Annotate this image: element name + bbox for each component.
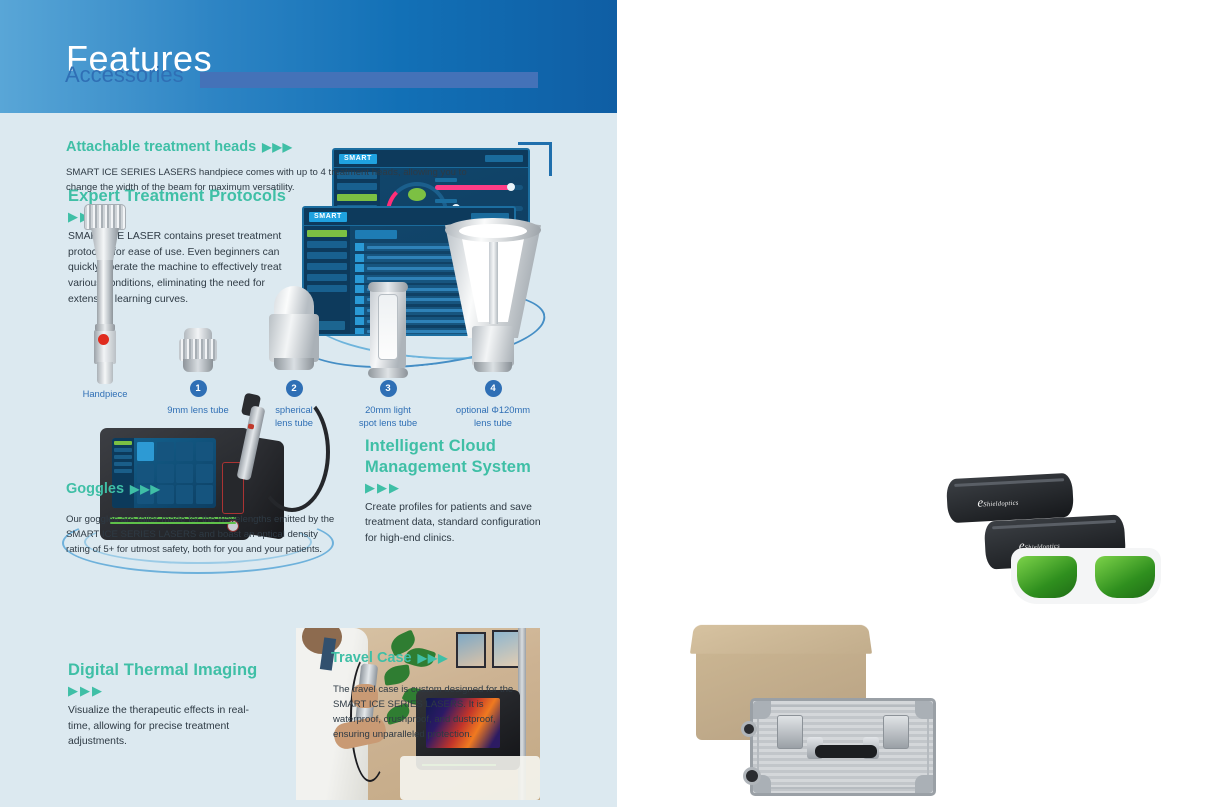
case-corner-bracket [753,701,771,719]
slider-knob [507,183,515,191]
goggles-lens-right [1095,556,1155,598]
software-brand-label: SMART [339,154,377,164]
safety-goggles [1011,548,1161,604]
handpiece-shaft [97,260,113,332]
goggles-lens-left [1017,556,1077,598]
section-heading-attachable-treatment-heads: Attachable treatment heads▶▶▶ [66,139,293,155]
handpiece-ribbed-top [84,204,126,230]
case-corner-bracket [915,701,933,719]
section-heading-goggles: Goggles▶▶▶ [66,481,161,497]
accessories-title: Accessories [65,62,184,88]
section-body-goggles: Our goggles are tailor-made for the wave… [66,513,341,558]
treatment-head-spherical-lens-tube: 2 spherical lens tube [254,200,334,430]
treatment-head-label: spherical lens tube [254,404,334,430]
grid-tile [176,442,193,461]
lens-tube-4-illustration [445,218,541,378]
arrow-marker-icon: ▶▶▶ [365,481,550,494]
treatment-head-label: 20mm light spot lens tube [342,404,434,430]
tube-base [368,368,408,378]
lens-tube-3-illustration [368,282,408,378]
tube-body [269,314,319,362]
case-logo-wordmark: Shieldoptics [983,499,1019,508]
touchscreen-tile-grid [134,438,216,508]
case-zipper [954,478,1065,487]
treatment-head-label: 9mm lens tube [156,404,240,417]
treatment-head-label: Handpiece [66,388,144,401]
grid-tile [157,442,174,461]
handpiece-tip [97,362,113,384]
section-body-travel-case: The travel case is custom designed for t… [333,683,533,742]
sidebar-item-active [114,441,132,445]
touchscreen-sidebar [112,438,134,508]
cone-neck [472,326,514,366]
case-handle [815,745,877,758]
aluminum-travel-case [750,698,936,796]
treatment-head-20mm-light-spot-lens-tube: 3 20mm light spot lens tube [342,200,434,430]
cone-center-rib [489,242,498,324]
feature-heading: Digital Thermal Imaging [68,660,268,681]
arrow-marker-icon: ▶▶▶ [68,684,268,697]
case-wheel [741,721,757,737]
sidebar-item [114,448,132,452]
handpiece-illustration [84,204,126,384]
cone-rim-inner [459,224,527,238]
topbar-status [485,155,523,162]
device-touchscreen [112,438,216,508]
accessories-title-rule [200,72,538,88]
grid-tile [176,485,193,504]
section-heading-text: Attachable treatment heads [66,139,256,155]
goggles-illustration: eShieldoptics eShieldoptics [943,470,1163,615]
treatment-head-badge: 1 [190,380,207,397]
treatment-heads-row: Handpiece 1 9mm lens tube [66,200,546,425]
sidebar-item [114,462,132,466]
sidebar-item [114,469,132,473]
feature-heading: Intelligent Cloud Management System [365,436,550,478]
grid-tile [196,485,213,504]
travel-case-illustration [690,620,940,800]
case-latch [883,715,909,749]
treatment-head-optional-120mm-lens-tube: 4 optional Φ120mm lens tube [438,200,548,430]
handpiece-neck [91,228,119,262]
grid-tile [176,464,193,483]
treatment-head-badge: 2 [286,380,303,397]
equipment-cart [400,756,540,800]
lens-tube-4-graphic [438,200,548,380]
case-corner-bracket [915,775,933,793]
treatment-head-handpiece: Handpiece [66,200,144,401]
cardboard-box-lid [690,625,872,654]
arrow-marker-icon: ▶▶▶ [262,140,293,154]
goggles-bridge [1077,562,1095,572]
wall-picture-frame [456,632,486,668]
arrow-marker-icon: ▶▶▶ [418,651,449,665]
lens-tube-1-graphic [156,200,240,380]
section-heading-travel-case: Travel Case▶▶▶ [331,650,448,666]
grid-tile [196,464,213,483]
treatment-head-label: optional Φ120mm lens tube [438,404,548,430]
treatment-head-badge: 3 [380,380,397,397]
sidebar-item [114,455,132,459]
handpiece-graphic [66,200,144,388]
tube-cap [368,282,408,292]
case-zipper [992,520,1115,529]
grid-tile [137,464,154,483]
case-logo: eShieldoptics [977,492,1019,510]
lens-tube-1-illustration [178,328,218,376]
case-latch [777,715,803,749]
section-heading-text: Goggles [66,481,124,497]
feature-intelligent-cloud-management-system: Intelligent Cloud Management System ▶▶▶ … [365,436,550,547]
feature-body: Visualize the therapeutic effects in rea… [68,703,268,750]
tube-knurled-body [179,339,217,361]
cone-base [474,362,512,372]
brochure-page: Features Expert Treatment Protocols ▶▶▶ … [0,0,1214,807]
section-heading-text: Travel Case [331,650,412,666]
feature-body: Create profiles for patients and save tr… [365,500,550,547]
grid-tile [137,442,154,461]
lens-tube-2-graphic [254,200,334,380]
section-body-attachable-treatment-heads: SMART ICE SERIES LASERS handpiece comes … [66,166,496,196]
lens-tube-2-illustration [268,286,320,378]
treatment-head-badge: 4 [485,380,502,397]
grid-tile [196,442,213,461]
arrow-marker-icon: ▶▶▶ [130,482,161,496]
lens-tube-3-graphic [342,200,434,380]
handpiece-ring [95,324,115,331]
grid-tile [157,464,174,483]
handpiece-red-button [98,334,109,345]
tube-base [274,358,314,370]
case-wheel [743,767,761,785]
feature-digital-thermal-imaging: Digital Thermal Imaging ▶▶▶ Visualize th… [68,660,268,750]
goggles-case: eShieldoptics [946,473,1074,524]
tube-window [378,294,398,360]
treatment-head-9mm-lens-tube: 1 9mm lens tube [156,200,240,417]
tube-base [183,359,213,372]
